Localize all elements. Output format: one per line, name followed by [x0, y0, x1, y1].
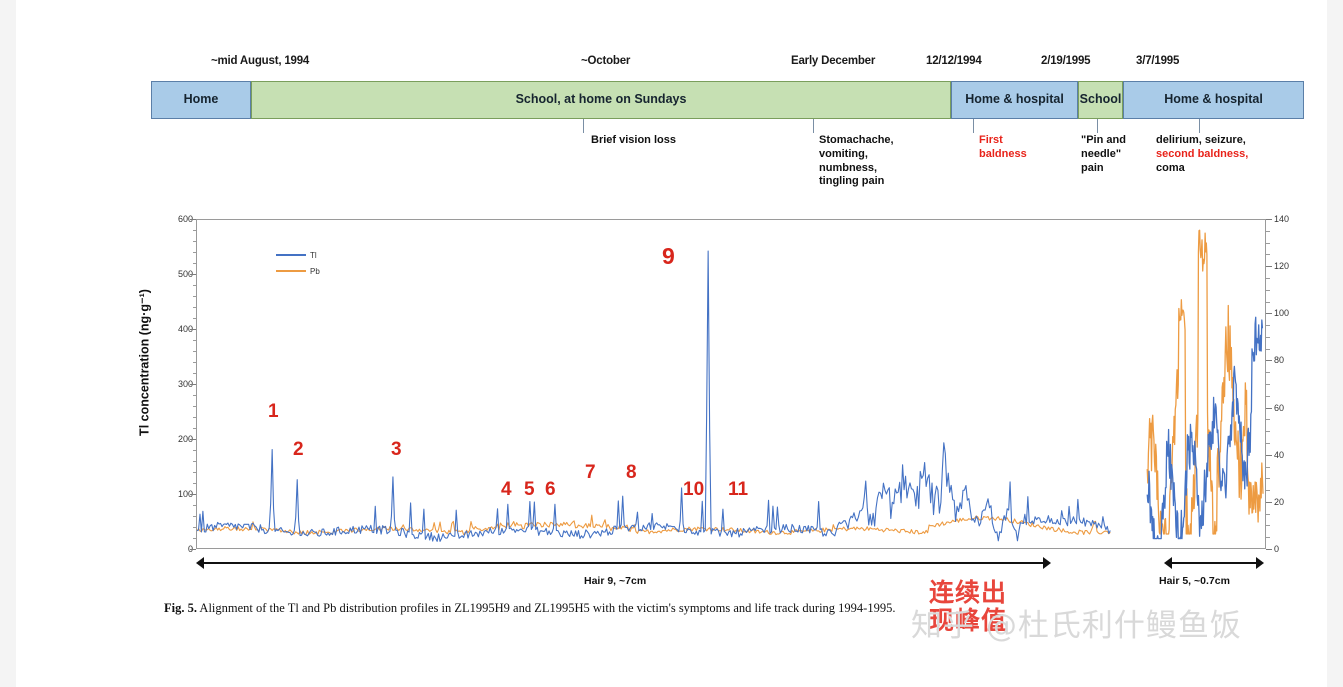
legend-label: Pb — [310, 267, 320, 276]
y-right-minor-tick — [1266, 349, 1270, 350]
timeline-date-3: 12/12/1994 — [926, 55, 982, 67]
y-right-tick-mark — [1266, 313, 1272, 314]
y-right-tick-label-4: 80 — [1274, 355, 1314, 365]
y-left-tick-label-3: 300 — [153, 379, 193, 389]
legend-item-Pb: Pb — [276, 263, 320, 279]
symptom-line: baldness — [979, 148, 1027, 162]
peak-label-7: 7 — [585, 463, 596, 482]
timeline-symptom-1: Stomachache,vomiting,numbness,tingling p… — [819, 134, 894, 189]
y-right-minor-tick — [1266, 337, 1270, 338]
legend-swatch-Pb — [276, 270, 306, 273]
y-right-minor-tick — [1266, 514, 1270, 515]
peak-label-5: 5 — [524, 480, 535, 499]
y-left-tick-mark — [190, 549, 196, 550]
timeline-symptom-tick-0 — [583, 119, 584, 133]
y-right-minor-tick — [1266, 278, 1270, 279]
scale-bar-line — [202, 562, 1045, 564]
symptom-line: needle" — [1081, 148, 1126, 162]
peak-label-6: 6 — [545, 480, 556, 499]
y-right-minor-tick — [1266, 231, 1270, 232]
scale-bar-line — [1170, 562, 1258, 564]
timeline-segment-3: School — [1078, 81, 1123, 119]
timeline-segment-label: School — [1080, 93, 1122, 106]
peak-label-11: 11 — [728, 480, 748, 499]
y-left-tick-label-2: 200 — [153, 434, 193, 444]
chart-legend: TlPb — [276, 247, 320, 279]
timeline-date-1: ~October — [581, 55, 630, 67]
y-right-minor-tick — [1266, 525, 1270, 526]
legend-label: Tl — [310, 251, 317, 260]
y-right-tick-mark — [1266, 219, 1272, 220]
timeline-symptom-4: delirium, seizure,second baldness,coma — [1156, 134, 1248, 175]
y-left-tick-label-5: 500 — [153, 269, 193, 279]
symptom-line: "Pin and — [1081, 134, 1126, 148]
timeline-segment-label: School, at home on Sundays — [516, 93, 687, 106]
figure-sheet: ~mid August, 1994~OctoberEarly December1… — [16, 0, 1327, 687]
scale-bar-0 — [196, 557, 1051, 569]
y-left-tick-label-0: 0 — [153, 544, 193, 554]
y-left-tick-label-1: 100 — [153, 489, 193, 499]
timeline-bar: HomeSchool, at home on SundaysHome & hos… — [151, 81, 1304, 119]
legend-item-Tl: Tl — [276, 247, 320, 263]
timeline: ~mid August, 1994~OctoberEarly December1… — [151, 55, 1304, 180]
caption-text: Alignment of the Tl and Pb distribution … — [197, 601, 895, 615]
peak-label-8: 8 — [626, 463, 637, 482]
timeline-date-5: 3/7/1995 — [1136, 55, 1179, 67]
figure-page: ~mid August, 1994~OctoberEarly December1… — [0, 0, 1343, 687]
y-right-tick-mark — [1266, 408, 1272, 409]
arrow-right-icon — [1256, 557, 1264, 569]
timeline-symptom-tick-2 — [973, 119, 974, 133]
peak-label-1: 1 — [268, 402, 279, 421]
peak-label-4: 4 — [501, 480, 512, 499]
y-right-minor-tick — [1266, 396, 1270, 397]
symptom-line: second baldness, — [1156, 148, 1248, 162]
y-right-minor-tick — [1266, 478, 1270, 479]
y-right-tick-label-3: 60 — [1274, 403, 1314, 413]
timeline-segment-4: Home & hospital — [1123, 81, 1304, 119]
timeline-date-0: ~mid August, 1994 — [211, 55, 309, 67]
y-right-minor-tick — [1266, 431, 1270, 432]
timeline-segment-1: School, at home on Sundays — [251, 81, 951, 119]
y-axis-left-title: Tl concentration (ng·g⁻¹) — [137, 233, 152, 493]
symptom-line: tingling pain — [819, 175, 894, 189]
scale-bar-1 — [1164, 557, 1264, 569]
chart: Tl concentration (ng·g⁻¹) Pb concentrati… — [134, 205, 1343, 590]
y-right-minor-tick — [1266, 290, 1270, 291]
peak-label-3: 3 — [391, 440, 402, 459]
y-right-tick-mark — [1266, 266, 1272, 267]
symptom-line: vomiting, — [819, 148, 894, 162]
timeline-segment-0: Home — [151, 81, 251, 119]
timeline-date-2: Early December — [791, 55, 875, 67]
peak-label-2: 2 — [293, 440, 304, 459]
y-right-tick-mark — [1266, 360, 1272, 361]
y-right-tick-label-6: 120 — [1274, 261, 1314, 271]
y-right-tick-label-1: 20 — [1274, 497, 1314, 507]
y-right-tick-mark — [1266, 455, 1272, 456]
y-right-minor-tick — [1266, 372, 1270, 373]
timeline-symptom-tick-4 — [1199, 119, 1200, 133]
scale-bar-label-1: Hair 5, ~0.7cm — [1159, 575, 1230, 587]
symptom-line: Stomachache, — [819, 134, 894, 148]
y-left-tick-label-4: 400 — [153, 324, 193, 334]
arrow-right-icon — [1043, 557, 1051, 569]
symptom-line: pain — [1081, 162, 1126, 176]
symptom-line: delirium, seizure, — [1156, 134, 1248, 148]
y-right-minor-tick — [1266, 325, 1270, 326]
y-right-minor-tick — [1266, 419, 1270, 420]
symptom-line: Brief vision loss — [591, 134, 676, 148]
timeline-symptom-tick-3 — [1097, 119, 1098, 133]
timeline-symptom-3: "Pin andneedle"pain — [1081, 134, 1126, 175]
timeline-segment-label: Home — [184, 93, 219, 106]
symptom-line: First — [979, 134, 1027, 148]
watermark: 知乎 @杜氏利什鳗鱼饭 — [911, 600, 1242, 645]
y-right-minor-tick — [1266, 384, 1270, 385]
timeline-segment-label: Home & hospital — [1164, 93, 1263, 106]
caption-prefix: Fig. 5. — [164, 601, 197, 615]
y-right-minor-tick — [1266, 243, 1270, 244]
timeline-symptom-tick-1 — [813, 119, 814, 133]
y-right-tick-label-2: 40 — [1274, 450, 1314, 460]
timeline-segment-2: Home & hospital — [951, 81, 1078, 119]
y-right-tick-label-7: 140 — [1274, 214, 1314, 224]
y-right-tick-mark — [1266, 502, 1272, 503]
timeline-symptom-0: Brief vision loss — [591, 134, 676, 148]
scale-bar-label-0: Hair 9, ~7cm — [584, 575, 646, 587]
peak-label-10: 10 — [683, 480, 704, 499]
y-right-minor-tick — [1266, 467, 1270, 468]
y-right-tick-mark — [1266, 549, 1272, 550]
y-right-tick-label-0: 0 — [1274, 544, 1314, 554]
legend-swatch-Tl — [276, 254, 306, 257]
symptom-line: numbness, — [819, 162, 894, 176]
y-right-minor-tick — [1266, 302, 1270, 303]
y-left-tick-label-6: 600 — [153, 214, 193, 224]
y-right-tick-label-5: 100 — [1274, 308, 1314, 318]
timeline-symptom-2: Firstbaldness — [979, 134, 1027, 162]
y-right-minor-tick — [1266, 443, 1270, 444]
timeline-segment-label: Home & hospital — [965, 93, 1064, 106]
y-right-minor-tick — [1266, 490, 1270, 491]
y-right-minor-tick — [1266, 254, 1270, 255]
peak-label-9: 9 — [662, 245, 675, 268]
symptom-line: coma — [1156, 162, 1248, 176]
timeline-date-4: 2/19/1995 — [1041, 55, 1090, 67]
y-right-minor-tick — [1266, 537, 1270, 538]
